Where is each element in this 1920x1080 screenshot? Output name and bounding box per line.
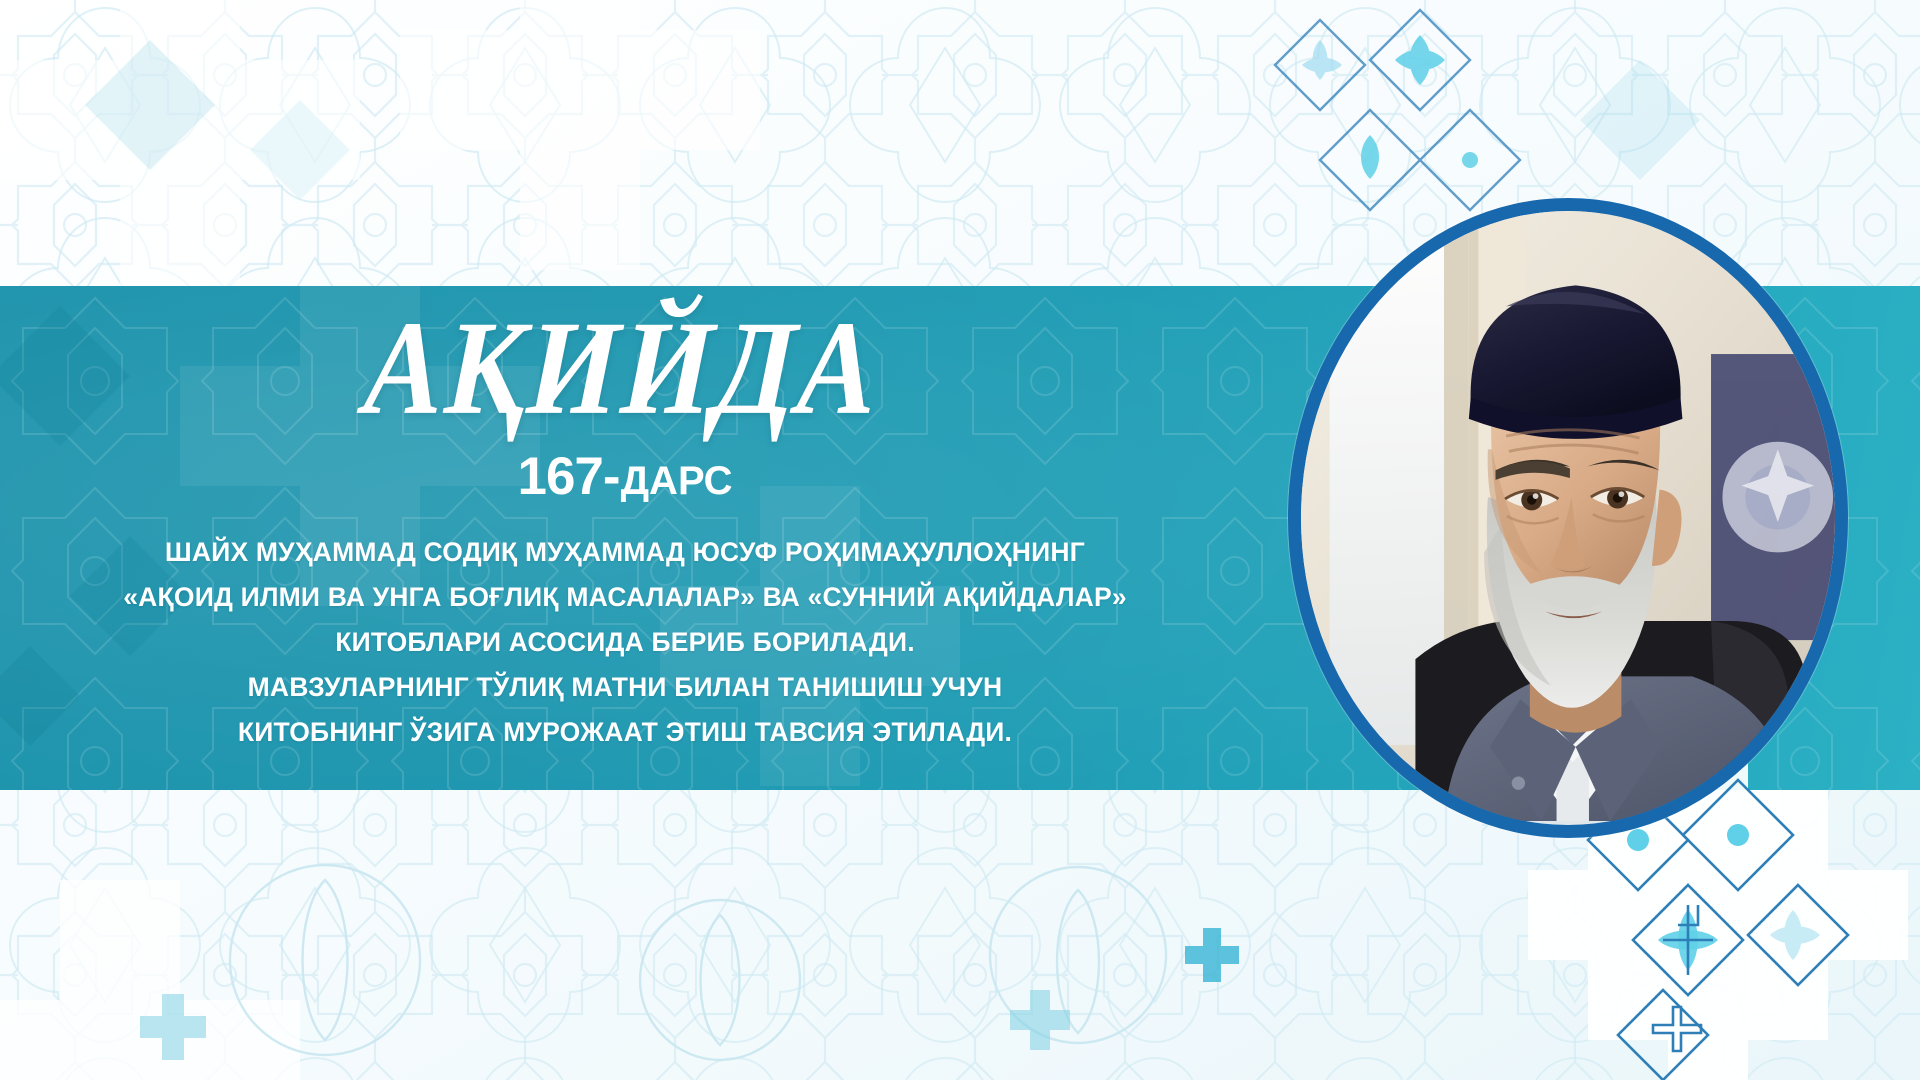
description-line-1: ШАЙХ МУҲАММАД СОДИҚ МУҲАММАД ЮСУФ РОҲИМА… (165, 531, 1085, 574)
avatar (1301, 211, 1835, 821)
description-line-5: КИТОБНИНГ ЎЗИГА МУРОЖААТ ЭТИШ ТАВСИЯ ЭТИ… (238, 711, 1012, 754)
portrait-container (1288, 198, 1848, 838)
lesson-separator: - (603, 447, 621, 506)
portrait-ring-border (1288, 198, 1848, 838)
poster-canvas: АҚИЙДА 167-ДАРС ШАЙХ МУҲАММАД СОДИҚ МУҲА… (0, 0, 1920, 1080)
description-text: ШАЙХ МУҲАММАД СОДИҚ МУҲАММАД ЮСУФ РОҲИМА… (0, 531, 1250, 754)
lesson-word: ДАРС (621, 459, 733, 503)
lesson-number-label: 167-ДАРС (517, 446, 732, 507)
description-line-2: «АҚОИД ИЛМИ ВА УНГА БОҒЛИҚ МАСАЛАЛАР» ВА… (123, 576, 1127, 619)
page-title: АҚИЙДА (362, 300, 882, 437)
description-line-3: КИТОБЛАРИ АСОСИДА БЕРИБ БОРИЛАДИ. (335, 621, 915, 664)
description-line-4: МАВЗУЛАРНИНГ ТЎЛИҚ МАТНИ БИЛАН ТАНИШИШ У… (248, 666, 1003, 709)
lesson-number: 167 (517, 447, 602, 506)
poster-text-block: АҚИЙДА 167-ДАРС ШАЙХ МУҲАММАД СОДИҚ МУҲА… (0, 286, 1250, 790)
